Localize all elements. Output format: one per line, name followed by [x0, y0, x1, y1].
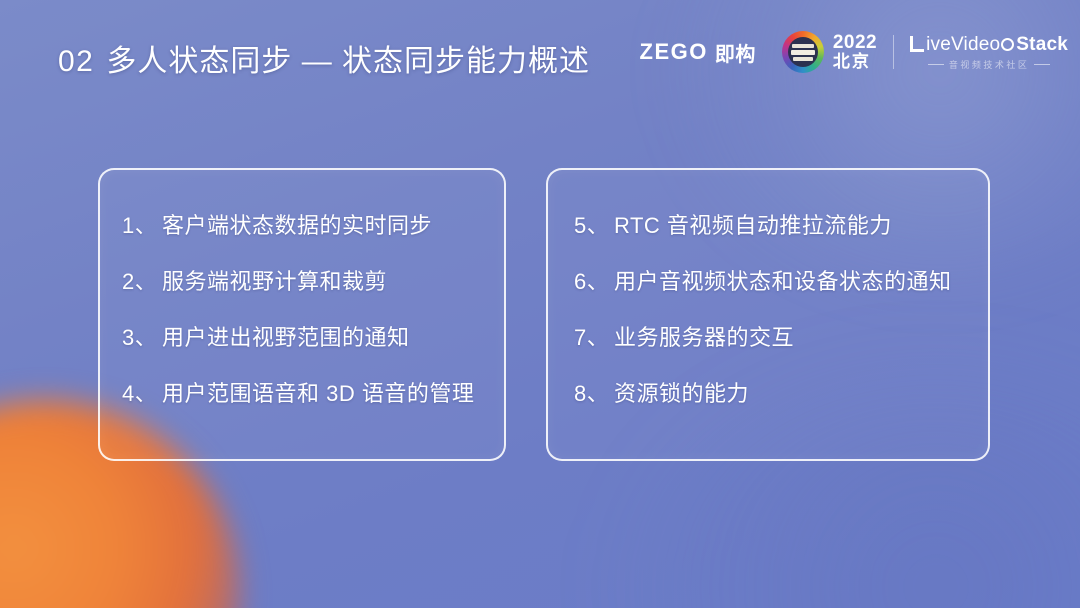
- list-item-label: 资源锁的能力: [614, 376, 749, 408]
- list-item: 7、 业务服务器的交互: [574, 320, 988, 376]
- badge-core-mark: [790, 44, 816, 61]
- event-year-city: 2022 北京: [833, 33, 877, 71]
- list-item-number: 6、: [574, 264, 614, 296]
- list-item: 3、 用户进出视野范围的通知: [122, 320, 504, 376]
- list-item-number: 7、: [574, 320, 614, 352]
- zego-wordmark: ZEGO: [640, 39, 708, 65]
- event-badge: 2022 北京: [782, 31, 877, 73]
- list-item-number: 2、: [122, 264, 162, 296]
- subtitle-rule-right: [1034, 64, 1050, 65]
- capability-list-left: 1、 客户端状态数据的实时同步 2、 服务端视野计算和裁剪 3、 用户进出视野范…: [100, 208, 504, 432]
- lvs-part-ive: ive: [926, 34, 951, 56]
- list-item: 4、 用户范围语音和 3D 语音的管理: [122, 376, 504, 432]
- list-item-number: 1、: [122, 208, 162, 240]
- capability-panel-right: 5、 RTC 音视频自动推拉流能力 6、 用户音视频状态和设备状态的通知 7、 …: [546, 168, 990, 461]
- event-city: 北京: [833, 53, 877, 71]
- list-item-label: 服务端视野计算和裁剪: [162, 264, 387, 296]
- zego-logo: ZEGO 即构: [640, 38, 756, 67]
- list-item-number: 5、: [574, 208, 614, 240]
- livevideostack-subtitle: 音视频技术社区: [928, 58, 1051, 71]
- lvs-dot-icon: [1001, 38, 1014, 51]
- list-item-label: 业务服务器的交互: [614, 320, 794, 352]
- list-item-label: 用户范围语音和 3D 语音的管理: [162, 376, 474, 408]
- zego-chinese-name: 即构: [715, 38, 756, 67]
- page-title-text: 多人状态同步 — 状态同步能力概述: [106, 45, 590, 78]
- subtitle-text: 音视频技术社区: [949, 58, 1030, 71]
- livevideostack-logo: iveVideoStack 音视频技术社区: [910, 34, 1068, 71]
- list-item: 6、 用户音视频状态和设备状态的通知: [574, 264, 988, 320]
- lvs-part-stack: Stack: [1016, 34, 1068, 56]
- list-item-label: 用户进出视野范围的通知: [162, 320, 410, 352]
- lvs-part-video: Video: [951, 34, 1000, 56]
- event-year: 2022: [833, 33, 877, 53]
- subtitle-rule-left: [928, 64, 944, 65]
- list-item-label: 用户音视频状态和设备状态的通知: [614, 264, 952, 296]
- capability-panel-left: 1、 客户端状态数据的实时同步 2、 服务端视野计算和裁剪 3、 用户进出视野范…: [98, 168, 506, 461]
- list-item: 2、 服务端视野计算和裁剪: [122, 264, 504, 320]
- list-item-label: 客户端状态数据的实时同步: [162, 208, 432, 240]
- list-item: 8、 资源锁的能力: [574, 376, 988, 432]
- presentation-slide: 02多人状态同步 — 状态同步能力概述 ZEGO 即构 2022 北京 iveV…: [0, 0, 1080, 608]
- livevideostack-wordmark: iveVideoStack: [910, 34, 1068, 56]
- page-title-number: 02: [58, 45, 94, 78]
- list-item-number: 4、: [122, 376, 162, 408]
- list-item-number: 8、: [574, 376, 614, 408]
- list-item-number: 3、: [122, 320, 162, 352]
- brand-bar: ZEGO 即构 2022 北京 iveVideoStack 音视频技术社区: [640, 28, 1068, 76]
- list-item-label: RTC 音视频自动推拉流能力: [614, 208, 892, 240]
- capability-list-right: 5、 RTC 音视频自动推拉流能力 6、 用户音视频状态和设备状态的通知 7、 …: [548, 208, 988, 432]
- page-title: 02多人状态同步 — 状态同步能力概述: [58, 36, 590, 80]
- l-mark-icon: [910, 36, 924, 52]
- brand-divider: [893, 35, 894, 69]
- rainbow-ring-icon: [782, 31, 824, 73]
- list-item: 5、 RTC 音视频自动推拉流能力: [574, 208, 988, 264]
- list-item: 1、 客户端状态数据的实时同步: [122, 208, 504, 264]
